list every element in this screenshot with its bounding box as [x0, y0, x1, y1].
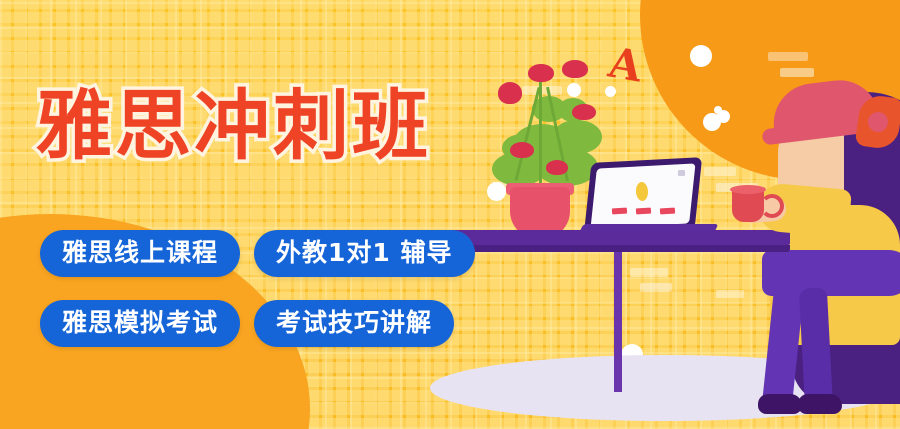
desk-edge	[450, 245, 790, 252]
tag-online-course[interactable]: 雅思线上课程	[40, 230, 240, 277]
plant-stem	[539, 76, 542, 186]
tag-row-1: 雅思线上课程 外教1对1 辅导	[40, 230, 475, 277]
tag-one-on-one-tutor[interactable]: 外教1对1 辅导	[254, 230, 475, 277]
plant-flower	[572, 104, 596, 120]
shoe-back	[758, 394, 802, 414]
laptop-screen-bar	[660, 208, 675, 215]
tag-exam-techniques[interactable]: 考试技巧讲解	[254, 300, 454, 347]
plant-flower	[546, 160, 568, 175]
tag-mock-exam[interactable]: 雅思模拟考试	[40, 300, 240, 347]
desk-leg	[614, 252, 622, 392]
page-title: 雅思冲刺班	[36, 88, 431, 164]
laptop-screen-bar	[612, 208, 627, 215]
desk-top	[450, 230, 790, 245]
plant-flower	[510, 142, 534, 158]
coffee-mug-rim	[730, 185, 766, 194]
hat-bow-knot	[868, 112, 888, 132]
laptop-screen-bar	[636, 208, 651, 215]
illustration-scene	[440, 0, 900, 429]
shoe-front	[798, 394, 842, 414]
banner-copy: 雅思冲刺班 雅思线上课程 外教1对1 辅导 雅思模拟考试 考试技巧讲解	[0, 0, 500, 429]
ielts-course-banner: A C	[0, 0, 900, 429]
plant-flower	[562, 60, 588, 78]
laptop-screen-button	[678, 170, 685, 176]
tag-row-2: 雅思模拟考试 考试技巧讲解	[40, 300, 454, 347]
plant-flower	[498, 82, 522, 104]
plant-flower	[528, 64, 554, 82]
coffee-mug-handle	[760, 194, 784, 218]
